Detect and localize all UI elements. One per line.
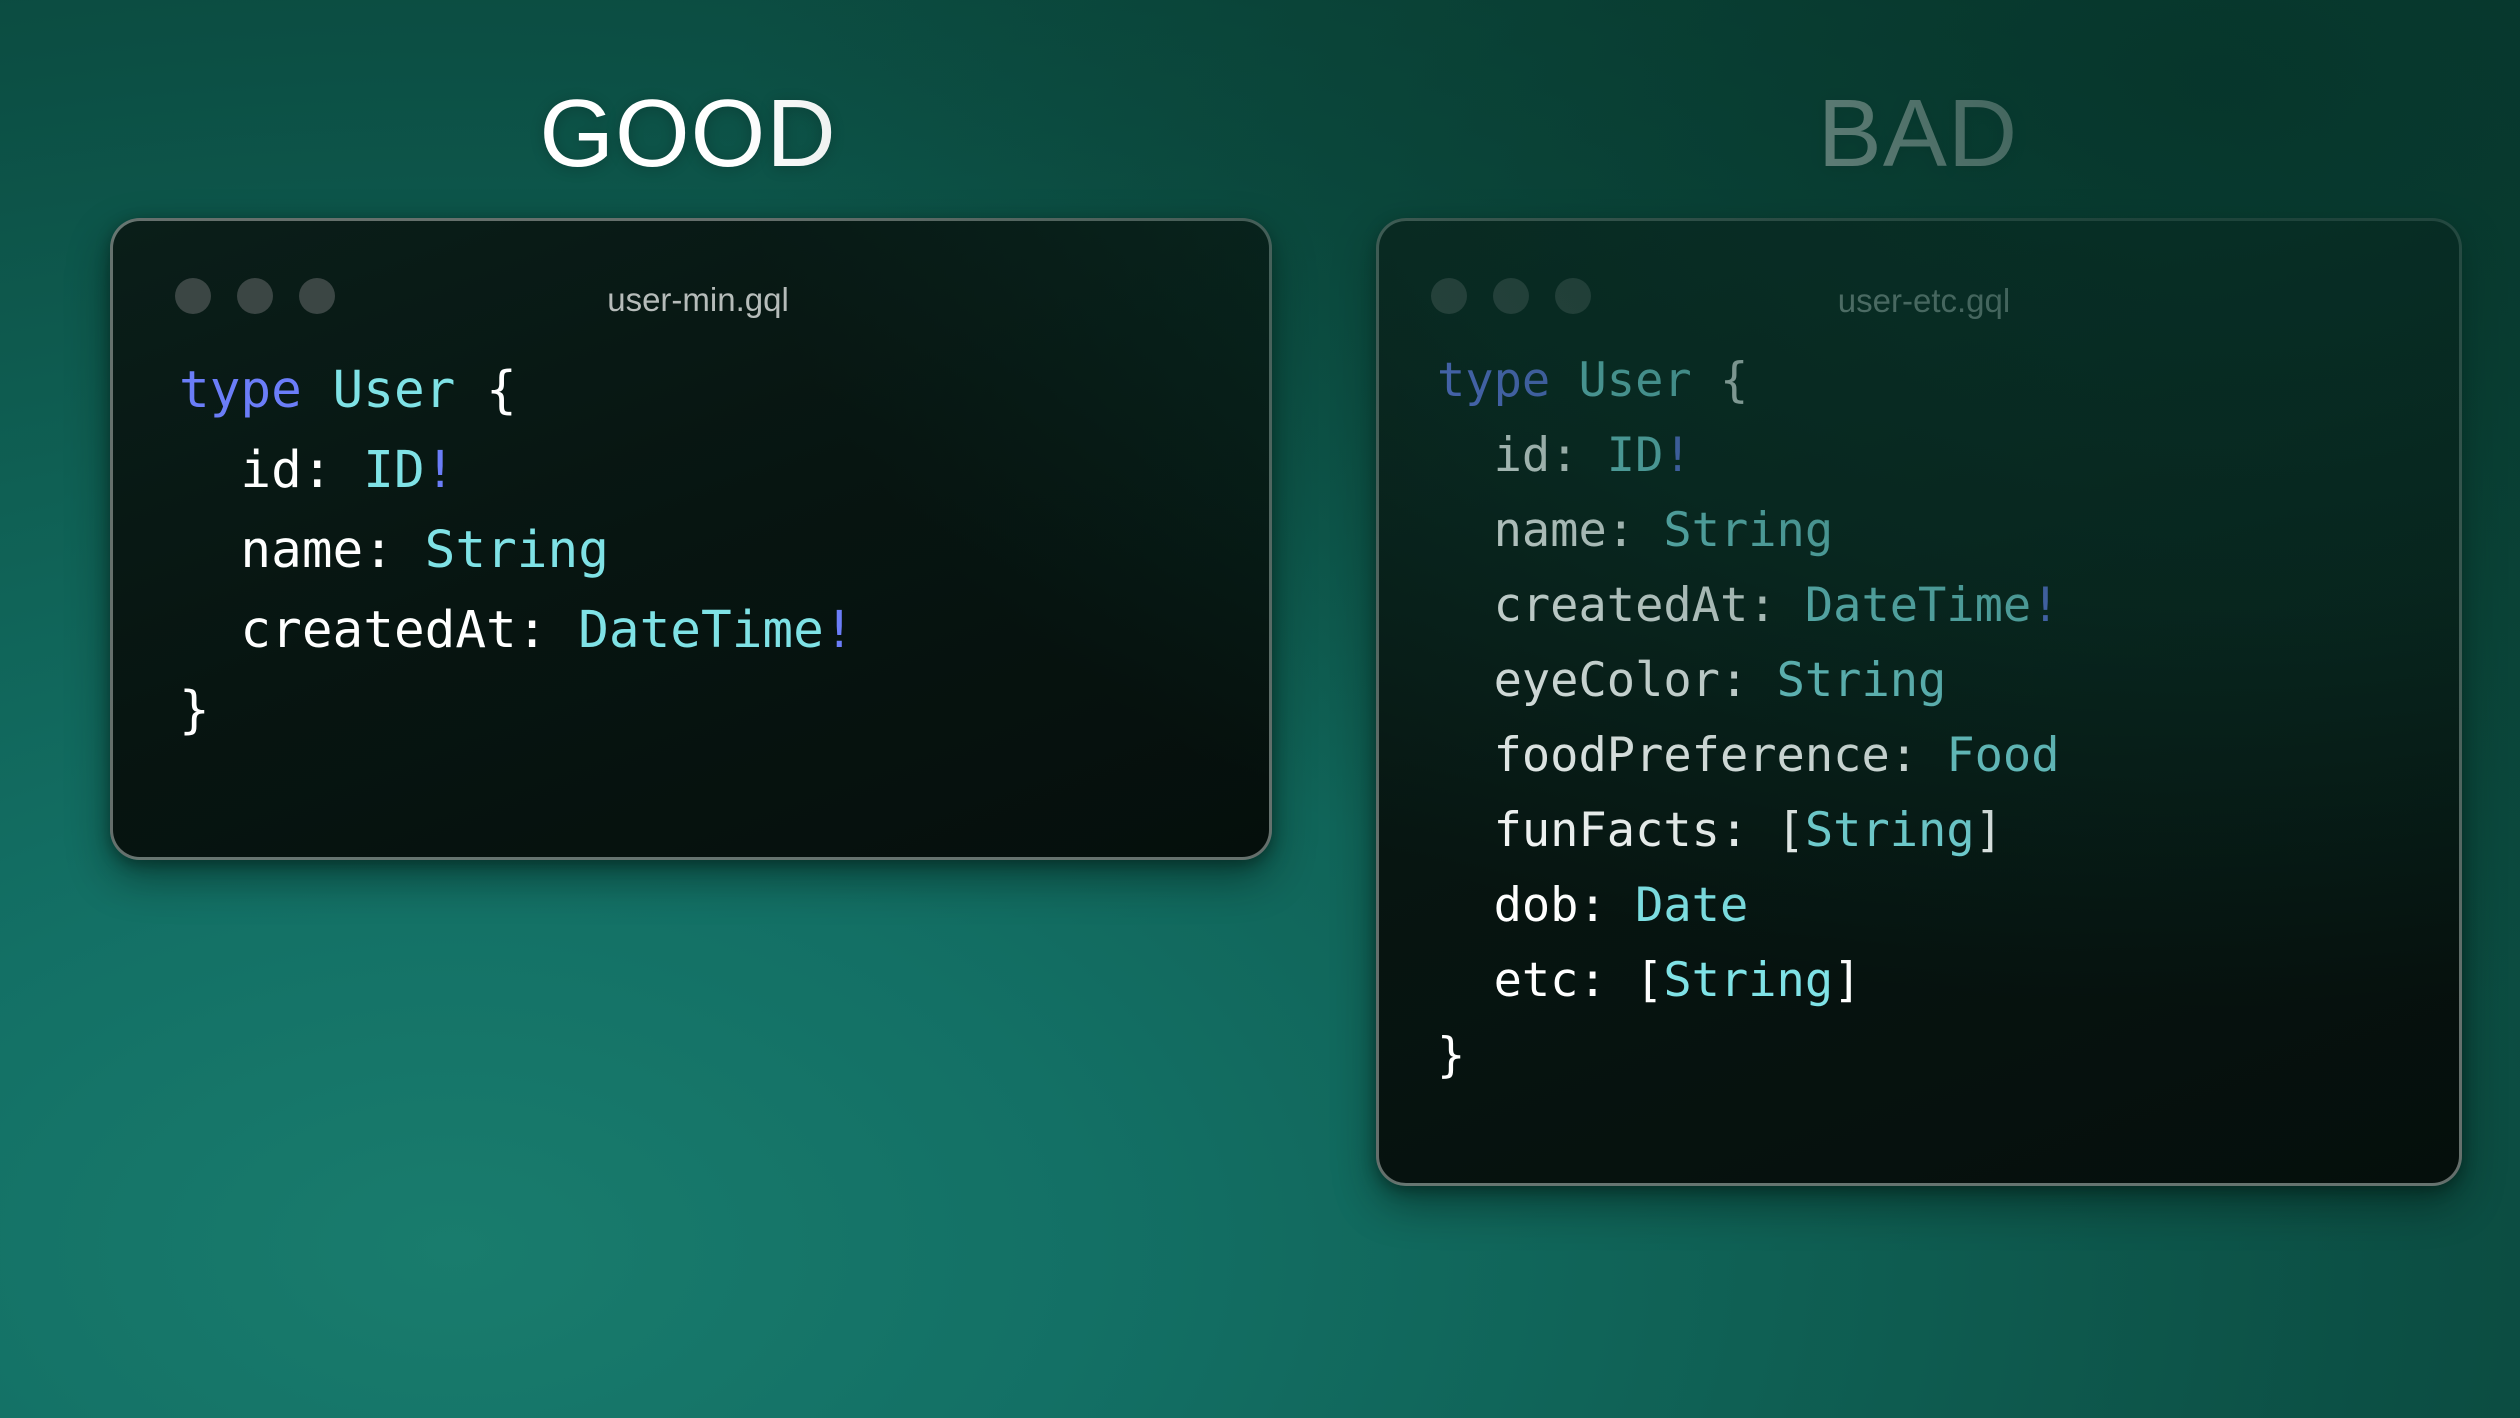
- code-token-kw: type: [1437, 353, 1550, 408]
- window-close-dot-icon[interactable]: [1431, 278, 1467, 314]
- code-token-pun: [179, 601, 240, 660]
- code-token-pun: [1437, 503, 1494, 558]
- window-maximize-dot-icon[interactable]: [299, 278, 335, 314]
- code-token-pun: :: [1748, 578, 1805, 633]
- code-token-pun: :: [1720, 803, 1777, 858]
- code-token-pun: [1437, 803, 1494, 858]
- code-token-name: etc: [1494, 953, 1579, 1008]
- code-token-pun: [179, 521, 240, 580]
- code-token-ty: DateTime: [578, 601, 824, 660]
- code-token-bang: !: [2031, 578, 2059, 633]
- code-token-ty: User: [1578, 353, 1691, 408]
- window-maximize-dot-icon[interactable]: [1555, 278, 1591, 314]
- code-token-pun: :: [1578, 953, 1635, 1008]
- code-line: type User {: [179, 351, 855, 431]
- code-token-pun: :: [1550, 428, 1607, 483]
- code-token-ty: Date: [1635, 878, 1748, 933]
- code-token-pun: [1437, 578, 1494, 633]
- code-line: }: [1437, 1018, 2060, 1093]
- window-minimize-dot-icon[interactable]: [1493, 278, 1529, 314]
- code-token-pun: :: [1720, 653, 1777, 708]
- code-token-pun: [1437, 953, 1494, 1008]
- code-token-name: foodPreference: [1494, 728, 1890, 783]
- code-line: id: ID!: [179, 431, 855, 511]
- code-token-pun: :: [1578, 878, 1635, 933]
- code-line: type User {: [1437, 343, 2060, 418]
- code-token-bang: !: [425, 441, 456, 500]
- code-token-pun: [1437, 728, 1494, 783]
- comparison-canvas: GOOD user-min.gql type User { id: ID! na…: [0, 0, 2520, 1418]
- code-token-pun: }: [1437, 1028, 1465, 1083]
- code-line: foodPreference: Food: [1437, 718, 2060, 793]
- code-token-ty: ID: [1607, 428, 1664, 483]
- code-token-name: dob: [1494, 878, 1579, 933]
- code-token-ty: ID: [363, 441, 424, 500]
- code-line: }: [179, 671, 855, 751]
- window-titlebar: user-min.gql: [113, 221, 1269, 325]
- code-token-pun: {: [1692, 353, 1749, 408]
- code-token-pun: }: [179, 681, 210, 740]
- code-token-ty: String: [1663, 953, 1833, 1008]
- code-line: etc: [String]: [1437, 943, 2060, 1018]
- code-block-good: type User { id: ID! name: String created…: [179, 351, 855, 751]
- code-token-name: eyeColor: [1494, 653, 1720, 708]
- code-token-pun: :: [363, 521, 424, 580]
- code-token-name: id: [1494, 428, 1551, 483]
- code-line: funFacts: [String]: [1437, 793, 2060, 868]
- window-traffic-lights: [1431, 278, 1591, 314]
- code-token-pun: [1437, 878, 1494, 933]
- code-token-pun: :: [1607, 503, 1664, 558]
- window-titlebar: user-etc.gql: [1379, 221, 2459, 325]
- column-heading-bad: BAD: [1818, 86, 2018, 182]
- code-token-name: name: [240, 521, 363, 580]
- code-block-bad: type User { id: ID! name: String created…: [1437, 343, 2060, 1093]
- code-token-ty: String: [1777, 653, 1947, 708]
- code-token-name: funFacts: [1494, 803, 1720, 858]
- code-token-ty: String: [1805, 803, 1975, 858]
- code-token-ty: String: [425, 521, 609, 580]
- code-token-pun: [: [1777, 803, 1805, 858]
- window-close-dot-icon[interactable]: [175, 278, 211, 314]
- window-filename-label: user-etc.gql: [1838, 284, 2010, 317]
- code-token-pun: ]: [1975, 803, 2003, 858]
- code-token-pun: :: [302, 441, 363, 500]
- code-line: name: String: [1437, 493, 2060, 568]
- column-heading-good: GOOD: [539, 86, 836, 182]
- window-traffic-lights: [175, 278, 335, 314]
- code-line: name: String: [179, 511, 855, 591]
- code-token-pun: :: [1890, 728, 1947, 783]
- code-token-pun: [: [1635, 953, 1663, 1008]
- code-token-pun: :: [517, 601, 578, 660]
- code-token-pun: [302, 361, 333, 420]
- code-token-pun: [1550, 353, 1578, 408]
- code-token-pun: [1437, 428, 1494, 483]
- code-token-kw: type: [179, 361, 302, 420]
- code-token-name: name: [1494, 503, 1607, 558]
- code-token-pun: {: [455, 361, 516, 420]
- code-token-name: createdAt: [240, 601, 516, 660]
- code-token-ty: User: [333, 361, 456, 420]
- code-token-bang: !: [824, 601, 855, 660]
- code-line: id: ID!: [1437, 418, 2060, 493]
- code-token-ty: Food: [1946, 728, 2059, 783]
- code-token-ty: String: [1663, 503, 1833, 558]
- code-line: eyeColor: String: [1437, 643, 2060, 718]
- code-token-pun: [1437, 653, 1494, 708]
- code-line: dob: Date: [1437, 868, 2060, 943]
- code-token-bang: !: [1663, 428, 1691, 483]
- window-minimize-dot-icon[interactable]: [237, 278, 273, 314]
- code-token-pun: ]: [1833, 953, 1861, 1008]
- code-line: createdAt: DateTime!: [179, 591, 855, 671]
- code-window-bad[interactable]: user-etc.gql type User { id: ID! name: S…: [1376, 218, 2462, 1186]
- code-token-name: id: [240, 441, 301, 500]
- code-window-good[interactable]: user-min.gql type User { id: ID! name: S…: [110, 218, 1272, 860]
- code-line: createdAt: DateTime!: [1437, 568, 2060, 643]
- window-filename-label: user-min.gql: [607, 283, 789, 316]
- code-token-ty: DateTime: [1805, 578, 2031, 633]
- code-token-name: createdAt: [1494, 578, 1749, 633]
- code-token-pun: [179, 441, 240, 500]
